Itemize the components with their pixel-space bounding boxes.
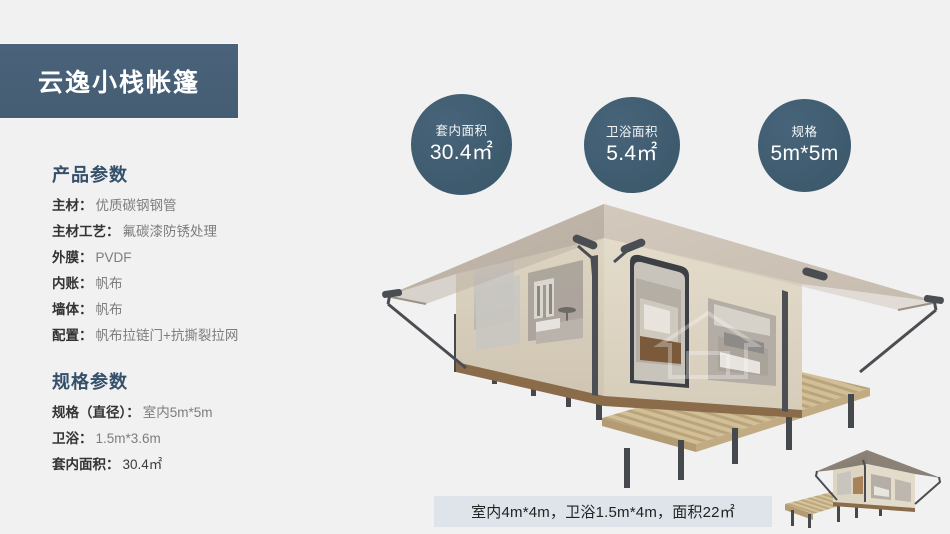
spec-section-heading-dimensions: 规格参数 xyxy=(52,371,352,393)
stat-circle-interior-area: 套内面积 30.4㎡ xyxy=(411,94,512,195)
spec-value: PVDF xyxy=(96,245,132,271)
spec-section-heading-product: 产品参数 xyxy=(52,164,352,186)
spec-row: 外膜： PVDF xyxy=(52,245,352,271)
spec-label: 墙体： xyxy=(52,297,93,323)
stat-circle-bathroom-area: 卫浴面积 5.4㎡ xyxy=(584,97,680,193)
spec-panel: 产品参数 主材： 优质碳钢钢管 主材工艺： 氟碳漆防锈处理 外膜： PVDF 内… xyxy=(52,164,352,478)
spec-value: 1.5m*3.6m xyxy=(96,426,161,452)
spec-row: 内账： 帆布 xyxy=(52,271,352,297)
spec-row: 主材： 优质碳钢钢管 xyxy=(52,193,352,219)
stat-circle-size: 规格 5m*5m xyxy=(758,99,851,192)
stat-value: 5m*5m xyxy=(770,141,838,167)
tent-thumbnail-svg xyxy=(775,444,947,532)
spec-row: 规格（直径）： 室内5m*5m xyxy=(52,400,352,426)
spec-value: 帆布拉链门+抗撕裂拉网 xyxy=(96,323,239,349)
stat-label: 规格 xyxy=(791,124,817,140)
spec-value: 氟碳漆防锈处理 xyxy=(123,219,218,245)
spec-row: 配置： 帆布拉链门+抗撕裂拉网 xyxy=(52,323,352,349)
spec-row: 套内面积： 30.4㎡ xyxy=(52,452,352,478)
spec-value: 帆布 xyxy=(96,297,123,323)
page-title: 云逸小栈帐篷 xyxy=(38,63,200,99)
product-spec-sheet: 云逸小栈帐篷 产品参数 主材： 优质碳钢钢管 主材工艺： 氟碳漆防锈处理 外膜：… xyxy=(0,0,950,534)
spec-label: 套内面积： xyxy=(52,452,120,478)
spec-label: 卫浴： xyxy=(52,426,93,452)
spec-label: 主材： xyxy=(52,193,93,219)
spec-value: 优质碳钢钢管 xyxy=(96,193,177,219)
spec-value: 帆布 xyxy=(96,271,123,297)
caption-text: 室内4m*4m，卫浴1.5m*4m，面积22㎡ xyxy=(471,501,735,522)
tent-thumbnail-illustration xyxy=(775,444,947,532)
spec-value: 30.4㎡ xyxy=(123,452,163,478)
spec-value: 室内5m*5m xyxy=(143,400,213,426)
spec-row: 卫浴： 1.5m*3.6m xyxy=(52,426,352,452)
stat-value: 5.4㎡ xyxy=(606,141,657,167)
spec-row: 主材工艺： 氟碳漆防锈处理 xyxy=(52,219,352,245)
spec-label: 规格（直径）： xyxy=(52,400,140,426)
stat-label: 卫浴面积 xyxy=(606,124,658,140)
spec-row: 墙体： 帆布 xyxy=(52,297,352,323)
image-caption-bar: 室内4m*4m，卫浴1.5m*4m，面积22㎡ xyxy=(434,496,772,527)
spec-label: 配置： xyxy=(52,323,93,349)
spec-label: 外膜： xyxy=(52,245,93,271)
spec-label: 内账： xyxy=(52,271,93,297)
stat-value: 30.4㎡ xyxy=(430,140,493,166)
product-title-band: 云逸小栈帐篷 xyxy=(0,44,238,118)
spec-label: 主材工艺： xyxy=(52,219,120,245)
stat-label: 套内面积 xyxy=(435,123,487,139)
